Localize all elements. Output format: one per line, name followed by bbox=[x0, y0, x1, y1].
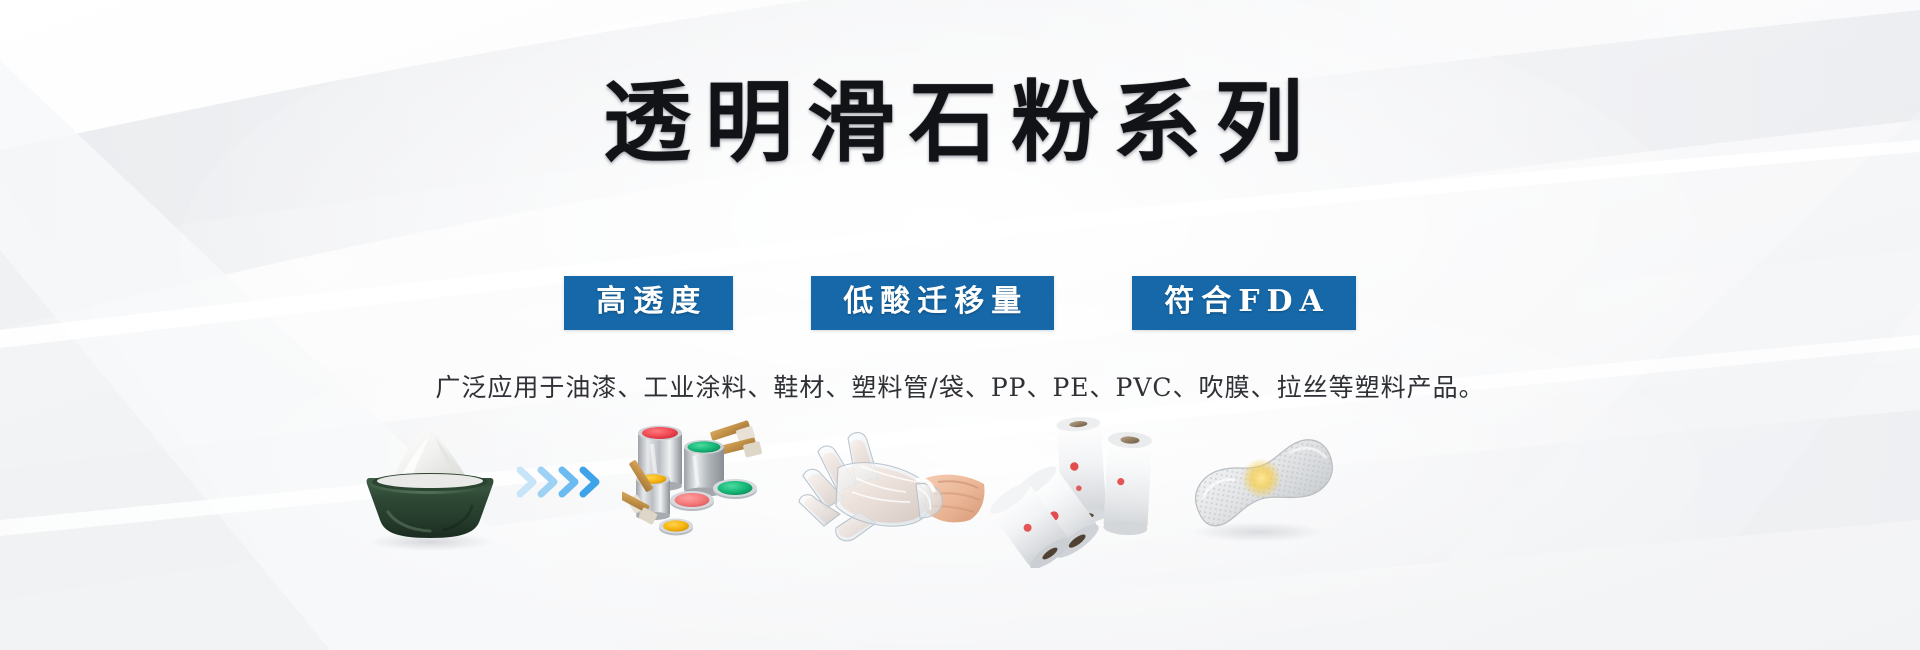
application-description: 广泛应用于油漆、工业涂料、鞋材、塑料管/袋、PP、PE、PVC、吹膜、拉丝等塑料… bbox=[0, 368, 1920, 404]
status-badge-transparency: 高透度 bbox=[564, 276, 733, 330]
page-title: 透明滑石粉系列 bbox=[0, 78, 1920, 166]
product-banner: 透明滑石粉系列 高透度 低酸迁移量 符合FDA 广泛应用于油漆、工业涂料、鞋材、… bbox=[0, 0, 1920, 650]
gloved-hand-image bbox=[798, 422, 988, 568]
shoe-sole-image bbox=[1172, 426, 1342, 556]
status-badge-fda: 符合FDA bbox=[1132, 276, 1356, 330]
flow-arrows-icon bbox=[516, 462, 624, 502]
feature-badge-group: 高透度 低酸迁移量 符合FDA bbox=[0, 276, 1920, 330]
product-image-strip bbox=[330, 420, 1250, 570]
status-badge-acid-migration: 低酸迁移量 bbox=[811, 276, 1054, 330]
paint-cans-image bbox=[622, 414, 802, 570]
talc-powder-bowl-image bbox=[330, 420, 530, 560]
plastic-film-rolls-image bbox=[990, 416, 1170, 568]
